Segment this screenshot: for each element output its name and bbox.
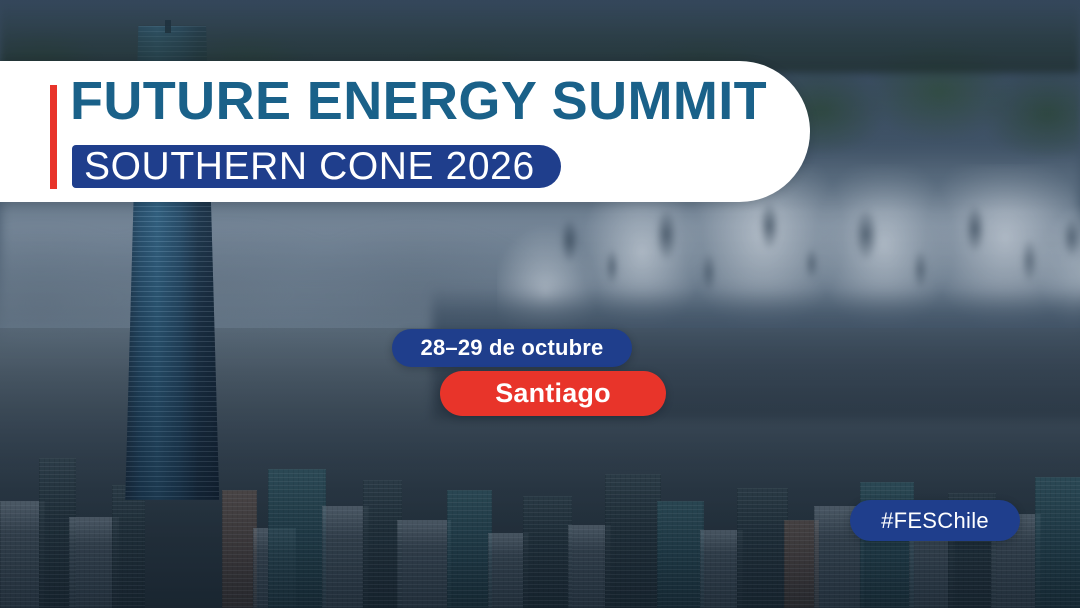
hashtag-badge: #FESChile [850,500,1020,541]
city-badge: Santiago [440,371,666,416]
page-title: FUTURE ENERGY SUMMIT [70,72,767,130]
date-badge: 28–29 de octubre [392,329,632,367]
event-banner: FUTURE ENERGY SUMMIT SOUTHERN CONE 2026 … [0,0,1080,608]
subtitle-bar: SOUTHERN CONE 2026 [72,145,561,188]
title-panel: FUTURE ENERGY SUMMIT SOUTHERN CONE 2026 [0,61,810,202]
red-accent-bar [50,85,57,189]
subtitle-text: SOUTHERN CONE 2026 [84,147,535,186]
